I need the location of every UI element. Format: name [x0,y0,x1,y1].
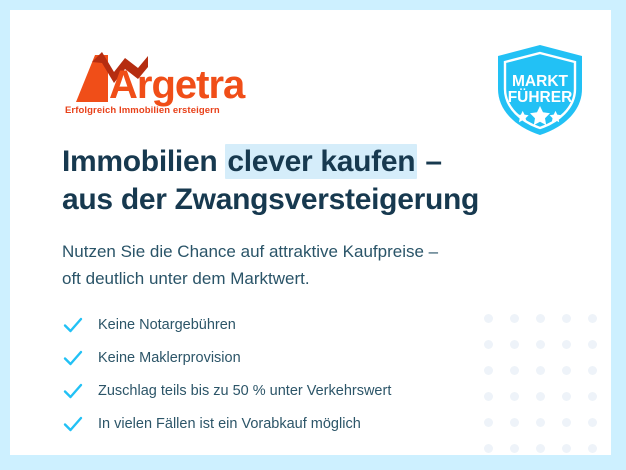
grid-dot [484,444,493,453]
headline-line1: Immobilien clever kaufen – [62,144,442,179]
grid-dot [562,392,571,401]
headline: Immobilien clever kaufen – aus der Zwang… [62,143,562,219]
list-item-label: In vielen Fällen ist ein Vorabkauf mögli… [98,416,361,432]
list-item-label: Zuschlag teils bis zu 50 % unter Verkehr… [98,383,391,399]
headline-highlight: clever kaufen [225,144,417,179]
svg-text:Argetra: Argetra [109,63,246,107]
grid-dot [562,340,571,349]
list-item-label: Keine Maklerprovision [98,350,241,366]
grid-dot [536,418,545,427]
grid-dot [562,418,571,427]
markt-fuehrer-badge: MARKT FÜHRER [494,42,586,138]
grid-dot [536,340,545,349]
grid-dot [588,340,597,349]
grid-dot [588,418,597,427]
grid-dot [588,392,597,401]
logo-tagline: Erfolgreich Immobilien ersteigern [65,105,220,116]
grid-dot [536,366,545,375]
subline-line2: oft deutlich unter dem Marktwert. [62,269,310,288]
check-icon [62,314,84,336]
list-item: In vielen Fällen ist ein Vorabkauf mögli… [62,409,532,439]
grid-dot [510,444,519,453]
benefits-list: Keine Notargebühren Keine Maklerprovisio… [62,310,532,442]
grid-dot [536,392,545,401]
badge-line2: FÜHRER [508,89,573,106]
grid-dot [562,444,571,453]
check-icon [62,347,84,369]
grid-dot [536,314,545,323]
list-item: Keine Notargebühren [62,310,532,340]
grid-dot [588,444,597,453]
check-icon [62,413,84,435]
argetra-logo[interactable]: Argetra Erfolgreich Immobilien ersteiger… [62,50,252,120]
headline-line2: aus der Zwangsversteigerung [62,183,479,216]
grid-dot [562,366,571,375]
headline-post: – [417,145,441,178]
promo-card: Argetra Erfolgreich Immobilien ersteiger… [10,10,611,455]
grid-dot [536,444,545,453]
badge-line1: MARKT [512,73,568,90]
grid-dot [588,314,597,323]
shield-icon: MARKT FÜHRER [494,42,586,138]
check-icon [62,380,84,402]
grid-dot [588,366,597,375]
headline-pre: Immobilien [62,145,225,178]
list-item-label: Keine Notargebühren [98,317,236,333]
list-item: Keine Maklerprovision [62,343,532,373]
subline: Nutzen Sie die Chance auf attraktive Kau… [62,238,562,292]
argetra-logo-mark: Argetra [62,50,252,108]
list-item: Zuschlag teils bis zu 50 % unter Verkehr… [62,376,532,406]
grid-dot [562,314,571,323]
subline-line1: Nutzen Sie die Chance auf attraktive Kau… [62,242,438,261]
